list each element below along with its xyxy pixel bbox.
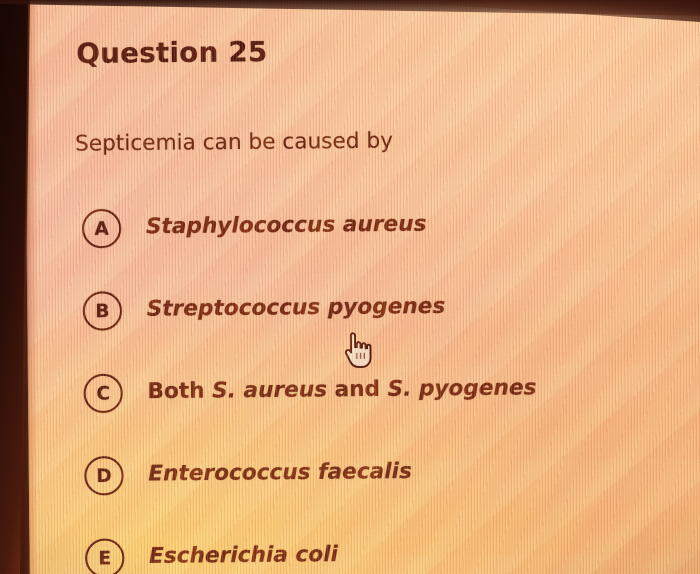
answer-option-d[interactable]: D Enterococcus faecalis	[84, 444, 700, 533]
option-marker-c[interactable]: C	[83, 374, 123, 414]
option-marker-b[interactable]: B	[83, 291, 123, 331]
answer-option-a[interactable]: A Staphylococcus aureus	[82, 197, 700, 286]
answer-option-e[interactable]: E Escherichia coli	[85, 526, 700, 574]
option-label-d: Enterococcus faecalis	[148, 458, 412, 485]
answer-option-c[interactable]: C Both S. aureus and S. pyogenes	[83, 362, 700, 451]
option-marker-a[interactable]: A	[82, 209, 122, 249]
option-marker-e[interactable]: E	[85, 538, 125, 574]
option-label-c: Both S. aureus and S. pyogenes	[147, 375, 536, 403]
photographed-screen: Question 25 Septicemia can be caused by …	[0, 0, 700, 574]
option-label-e: Escherichia coli	[149, 542, 338, 569]
quiz-content: Question 25 Septicemia can be caused by …	[24, 0, 700, 574]
option-label-b: Streptococcus pyogenes	[147, 293, 446, 321]
page-title: Question 25	[76, 36, 268, 70]
screen-surface: Question 25 Septicemia can be caused by …	[24, 0, 700, 574]
option-marker-d[interactable]: D	[84, 456, 124, 496]
answer-option-b[interactable]: B Streptococcus pyogenes	[83, 279, 700, 368]
answer-options-list: A Staphylococcus aureus B Streptococcus …	[82, 197, 700, 574]
option-label-a: Staphylococcus aureus	[146, 211, 427, 238]
question-stem: Septicemia can be caused by	[75, 128, 393, 156]
